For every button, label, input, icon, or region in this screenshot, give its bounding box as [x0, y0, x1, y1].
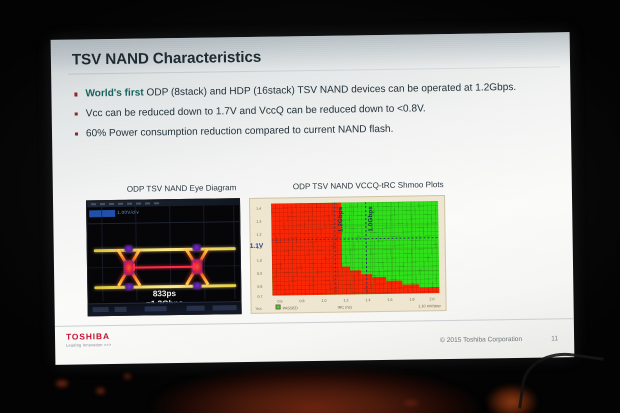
bullet-text: Vcc can be reduced down to 1.7V and VccQ…: [86, 103, 426, 119]
slide-title: TSV NAND Characteristics: [72, 49, 261, 69]
eye-diagram-figure: 1.00V/div 833ps =1.2Gbps: [86, 198, 242, 316]
bullet-text: ODP (8stack) and HDP (16stack) TSV NAND …: [144, 82, 517, 99]
bullet-marker-icon: [74, 93, 77, 96]
scope-toolbar: [87, 199, 239, 207]
footer-divider: [55, 318, 574, 327]
page-number: 11: [551, 335, 558, 342]
shmoo-x-axis-label: tRC (ns): [338, 305, 352, 309]
shmoo-plot-figure: 1.1V 1.4 1.3 1.2 1.1 1.0 0.9 0.8 0.7: [249, 195, 447, 314]
scope-status-bar: [89, 301, 241, 315]
bullet-item-1: World's first ODP (8stack) and HDP (16st…: [73, 81, 551, 100]
projected-slide-photo: TSV NAND Characteristics World's first O…: [0, 0, 620, 413]
copyright-text: © 2015 Toshiba Corporation: [440, 336, 522, 344]
toshiba-logo: TOSHIBA Leading Innovation >>>: [66, 331, 111, 347]
bullet-text: 60% Power consumption reduction compared…: [86, 124, 394, 140]
shmoo-grid-area: 1.2Gbps 1.0Gbps: [271, 201, 439, 295]
bullet-emphasis: World's first: [85, 87, 143, 99]
presentation-slide: TSV NAND Characteristics World's first O…: [51, 32, 575, 365]
bullet-item-2: Vcc can be reduced down to 1.7V and VccQ…: [74, 101, 552, 120]
shmoo-plot-caption: ODP TSV NAND VCCQ-tRC Shmoo Plots: [293, 180, 444, 191]
bullet-marker-icon: [75, 132, 78, 135]
eye-diagram-caption: ODP TSV NAND Eye Diagram: [127, 183, 237, 194]
toshiba-logo-tagline: Leading Innovation >>>: [66, 342, 111, 348]
audience-silhouette: [140, 366, 500, 413]
bullet-item-3: 60% Power consumption reduction compared…: [74, 121, 552, 140]
shmoo-rate-label-1: 1.2Gbps: [337, 207, 344, 233]
bullet-list: World's first ODP (8stack) and HDP (16st…: [73, 81, 552, 148]
toshiba-logo-wordmark: TOSHIBA: [66, 331, 111, 342]
shmoo-rate-label-2: 1.0Gbps: [367, 206, 374, 232]
bullet-marker-icon: [75, 113, 78, 116]
shmoo-axis-note: 1.10 mV/step: [418, 304, 440, 308]
title-divider: [68, 66, 560, 74]
shmoo-corner-label: Vcc: [256, 306, 262, 310]
shmoo-legend-swatch-pass: [276, 304, 281, 309]
shmoo-legend-label-pass: PASSED: [283, 306, 298, 310]
